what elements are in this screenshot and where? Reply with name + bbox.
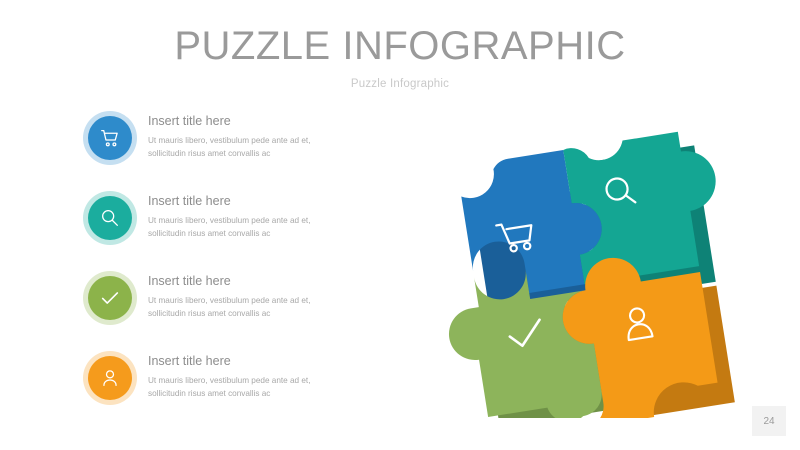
list-item-description: Ut mauris libero, vestibulum pede ante a… bbox=[148, 375, 326, 400]
page-subtitle: Puzzle Infographic bbox=[0, 78, 800, 90]
list-item-text: Insert title here Ut mauris libero, vest… bbox=[148, 112, 326, 160]
slide-canvas: PUZZLE INFOGRAPHIC Puzzle Infographic In… bbox=[0, 0, 800, 450]
check-icon bbox=[99, 287, 121, 309]
badge-user[interactable] bbox=[88, 356, 132, 400]
badge-check[interactable] bbox=[88, 276, 132, 320]
puzzle-svg bbox=[430, 118, 740, 418]
list-item-description: Ut mauris libero, vestibulum pede ante a… bbox=[148, 215, 326, 240]
list-item-title: Insert title here bbox=[148, 192, 326, 210]
header: PUZZLE INFOGRAPHIC Puzzle Infographic bbox=[0, 24, 800, 90]
page-number: 24 bbox=[752, 406, 786, 436]
list-item[interactable]: Insert title here Ut mauris libero, vest… bbox=[88, 272, 348, 330]
user-icon bbox=[99, 367, 121, 389]
list-item-description: Ut mauris libero, vestibulum pede ante a… bbox=[148, 135, 326, 160]
list-item-title: Insert title here bbox=[148, 112, 326, 130]
list-item-text: Insert title here Ut mauris libero, vest… bbox=[148, 352, 326, 400]
list-item-text: Insert title here Ut mauris libero, vest… bbox=[148, 272, 326, 320]
badge-magnifier[interactable] bbox=[88, 196, 132, 240]
list-item-text: Insert title here Ut mauris libero, vest… bbox=[148, 192, 326, 240]
magnifier-icon bbox=[99, 207, 121, 229]
shopping-cart-icon bbox=[99, 127, 121, 149]
badge-shopping-cart[interactable] bbox=[88, 116, 132, 160]
list-item[interactable]: Insert title here Ut mauris libero, vest… bbox=[88, 192, 348, 250]
feature-list: Insert title here Ut mauris libero, vest… bbox=[88, 112, 348, 432]
list-item[interactable]: Insert title here Ut mauris libero, vest… bbox=[88, 352, 348, 410]
list-item-description: Ut mauris libero, vestibulum pede ante a… bbox=[148, 295, 326, 320]
list-item-title: Insert title here bbox=[148, 272, 326, 290]
list-item[interactable]: Insert title here Ut mauris libero, vest… bbox=[88, 112, 348, 170]
page-title: PUZZLE INFOGRAPHIC bbox=[0, 24, 800, 68]
list-item-title: Insert title here bbox=[148, 352, 326, 370]
puzzle-graphic bbox=[430, 118, 740, 418]
